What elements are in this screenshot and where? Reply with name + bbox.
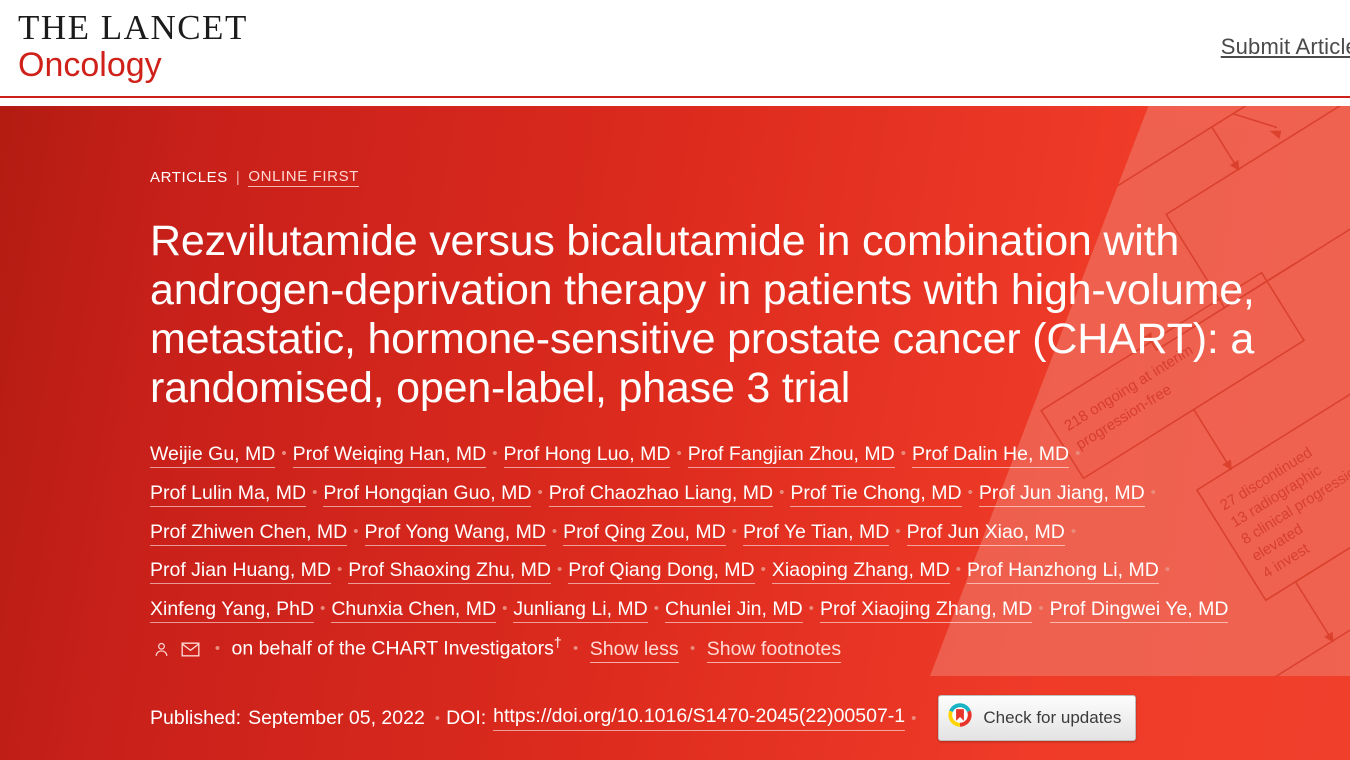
page-title: Rezvilutamide versus bicalutamide in com… (150, 217, 1260, 413)
author-separator-bullet: • (1151, 478, 1156, 508)
author-separator-bullet: • (320, 594, 325, 624)
author-separator-bullet: • (1165, 555, 1170, 585)
publication-separator-bullet: • (911, 710, 916, 727)
author-separator-bullet: • (809, 594, 814, 624)
author-separator-bullet: • (353, 517, 358, 547)
article-type-label: ARTICLES (150, 169, 228, 186)
author-separator-bullet: • (215, 634, 220, 664)
doi-link[interactable]: https://doi.org/10.1016/S1470-2045(22)00… (493, 705, 905, 731)
author-link[interactable]: Prof Shaoxing Zhu, MD (348, 559, 551, 584)
author-link[interactable]: Prof Dalin He, MD (912, 443, 1069, 468)
author-separator-bullet: • (502, 594, 507, 624)
author-link[interactable]: Prof Qing Zou, MD (563, 521, 726, 546)
author-link[interactable]: Junliang Li, MD (513, 598, 647, 623)
author-link[interactable]: Prof Ye Tian, MD (743, 521, 889, 546)
author-link[interactable]: Prof Zhiwen Chen, MD (150, 521, 347, 546)
author-link[interactable]: Weijie Gu, MD (150, 443, 275, 468)
author-separator-bullet: • (761, 555, 766, 585)
author-link[interactable]: Prof Chaozhao Liang, MD (549, 482, 773, 507)
author-link[interactable]: Xinfeng Yang, PhD (150, 598, 314, 623)
author-link[interactable]: Chunxia Chen, MD (331, 598, 496, 623)
crossmark-label: Check for updates (983, 708, 1121, 728)
header-navigation: Submit Article (1221, 34, 1350, 60)
author-separator-bullet: • (281, 439, 286, 469)
brand-title-oncology: Oncology (18, 47, 248, 84)
online-first-link[interactable]: ONLINE FIRST (248, 168, 359, 187)
hero-content: ARTICLES | ONLINE FIRST Rezvilutamide ve… (0, 106, 1350, 741)
email-icon[interactable] (181, 633, 200, 672)
author-link[interactable]: Prof Weiqing Han, MD (293, 443, 487, 468)
lancet-oncology-logo[interactable]: THE LANCET Oncology (0, 0, 248, 84)
published-date: September 05, 2022 (248, 707, 425, 730)
group-author-label: on behalf of the CHART Investigators (232, 638, 554, 660)
author-separator-bullet: • (690, 634, 695, 664)
author-link[interactable]: Prof Jun Jiang, MD (979, 482, 1145, 507)
author-separator-bullet: • (901, 439, 906, 469)
author-link[interactable]: Prof Dingwei Ye, MD (1050, 598, 1229, 623)
author-separator-bullet: • (537, 478, 542, 508)
author-separator-bullet: • (312, 478, 317, 508)
author-items-container: Weijie Gu, MD•Prof Weiqing Han, MD•Prof … (150, 443, 1228, 620)
author-separator-bullet: • (956, 555, 961, 585)
show-footnotes-link[interactable]: Show footnotes (707, 638, 841, 663)
published-label: Published: (150, 707, 241, 730)
author-separator-bullet: • (732, 517, 737, 547)
author-separator-bullet: • (676, 439, 681, 469)
author-separator-bullet: • (654, 594, 659, 624)
author-separator-bullet: • (337, 555, 342, 585)
author-separator-bullet: • (779, 478, 784, 508)
author-separator-bullet: • (492, 439, 497, 469)
author-link[interactable]: Prof Hong Luo, MD (504, 443, 671, 468)
author-list: Weijie Gu, MD•Prof Weiqing Han, MD•Prof … (150, 435, 1230, 671)
crossmark-check-for-updates-button[interactable]: Check for updates (938, 695, 1136, 741)
breadcrumb-separator: | (236, 169, 241, 186)
author-link[interactable]: Prof Xiaojing Zhang, MD (820, 598, 1032, 623)
author-separator-bullet: • (1071, 517, 1076, 547)
show-less-link[interactable]: Show less (590, 638, 679, 663)
breadcrumb: ARTICLES | ONLINE FIRST (150, 168, 1350, 187)
author-separator-bullet: • (1075, 439, 1080, 469)
author-separator-bullet: • (1038, 594, 1043, 624)
author-separator-bullet: • (573, 634, 578, 664)
publication-separator-bullet: • (435, 710, 440, 727)
crossmark-icon (947, 702, 973, 734)
submit-article-link[interactable]: Submit Article (1221, 34, 1350, 60)
author-link[interactable]: Prof Jian Huang, MD (150, 559, 331, 584)
author-link[interactable]: Prof Qiang Dong, MD (568, 559, 754, 584)
author-link[interactable]: Prof Fangjian Zhou, MD (688, 443, 895, 468)
author-link[interactable]: Prof Hanzhong Li, MD (967, 559, 1159, 584)
author-link[interactable]: Prof Lulin Ma, MD (150, 482, 306, 507)
author-link[interactable]: Prof Yong Wang, MD (365, 521, 546, 546)
publication-info-row: Published: September 05, 2022 • DOI: htt… (150, 695, 1350, 741)
author-separator-bullet: • (895, 517, 900, 547)
author-link[interactable]: Xiaoping Zhang, MD (772, 559, 950, 584)
author-link[interactable]: Prof Jun Xiao, MD (907, 521, 1065, 546)
site-header: THE LANCET Oncology Submit Article (0, 0, 1350, 106)
doi-label: DOI: (446, 707, 486, 730)
author-profile-icon[interactable] (153, 633, 170, 672)
author-link[interactable]: Prof Hongqian Guo, MD (323, 482, 531, 507)
author-link[interactable]: Chunlei Jin, MD (665, 598, 803, 623)
author-separator-bullet: • (557, 555, 562, 585)
footnote-marker-dagger: † (554, 634, 562, 650)
article-hero-banner: 3 218 ongoing at interim progression-fre… (0, 106, 1350, 760)
author-separator-bullet: • (552, 517, 557, 547)
header-rule-gap (0, 98, 1350, 102)
author-separator-bullet: • (968, 478, 973, 508)
author-link[interactable]: Prof Tie Chong, MD (790, 482, 961, 507)
brand-title-the-lancet: THE LANCET (18, 10, 248, 45)
